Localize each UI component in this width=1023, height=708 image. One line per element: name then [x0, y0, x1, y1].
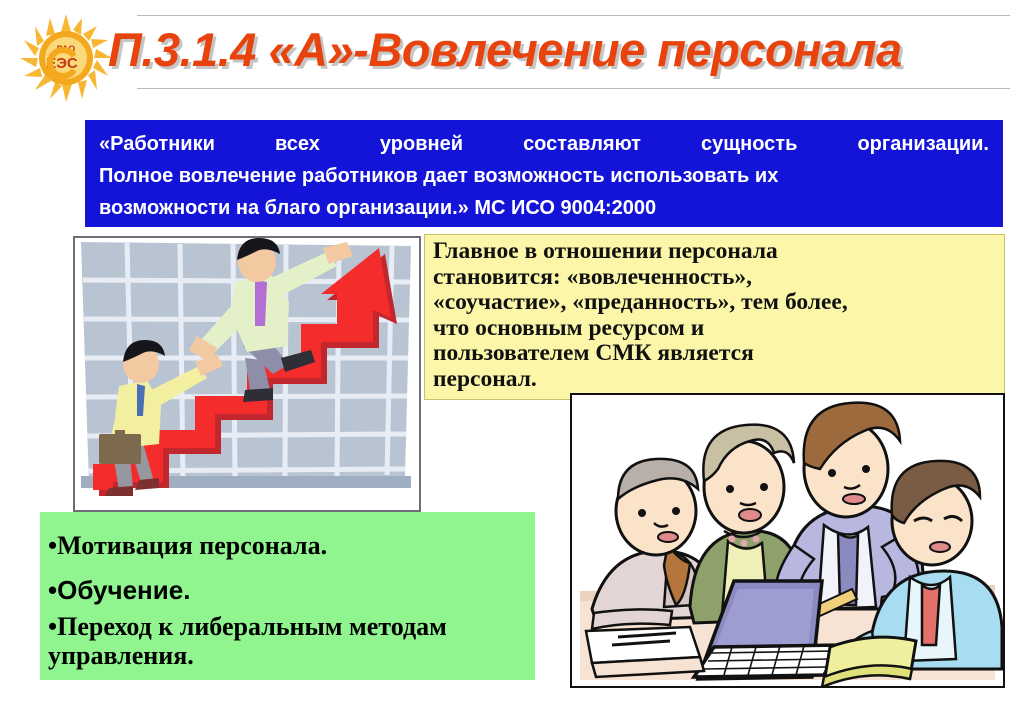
quote-word: «Работники — [99, 128, 215, 160]
yellow-line: Главное в отношении персонала — [433, 239, 998, 265]
quote-word: всех — [275, 128, 320, 160]
iso-quote-box: «Работники всех уровней составляют сущно… — [85, 120, 1003, 227]
yellow-line: «соучастие», «преданность», тем более, — [433, 290, 998, 316]
yellow-line: персонал. — [433, 367, 998, 393]
quote-word: сущность — [701, 128, 797, 160]
yellow-line: становится: «вовлеченность», — [433, 265, 998, 291]
list-item: •Мотивация персонала. — [48, 524, 525, 568]
quote-word: составляют — [523, 128, 641, 160]
team-around-laptop-clipart — [570, 393, 1005, 688]
quote-word: уровней — [380, 128, 463, 160]
personnel-emphasis-box: Главное в отношении персонала становится… — [424, 234, 1005, 400]
header-rule-top — [137, 15, 1010, 16]
quote-line-3: возможности на благо организации.» МС ИС… — [99, 192, 989, 224]
measures-bullet-box: •Мотивация персонала. •Обучение. •Перехо… — [40, 512, 535, 680]
yellow-line: что основным ресурсом и — [433, 316, 998, 342]
quote-line-2: Полное вовлечение работников дает возмож… — [99, 160, 989, 192]
list-item: •Переход к либеральным методам управлени… — [48, 612, 525, 670]
page-title: П.3.1.4 «А»-Вовлечение персонала — [108, 22, 902, 77]
businessmen-climbing-red-arrow-stairs-clipart — [73, 236, 421, 512]
slide-root: РАО ЕЭС П.3.1.4 «А»-Вовлечение персонала… — [0, 0, 1023, 708]
header-rule-bottom — [137, 88, 1010, 89]
yellow-line: пользователем СМК является — [433, 341, 998, 367]
quote-word: организации. — [857, 128, 989, 160]
rao-ees-sun-logo-icon: РАО ЕЭС — [18, 12, 114, 104]
list-item: •Обучение. — [48, 568, 525, 612]
quote-line-1: «Работники всех уровней составляют сущно… — [99, 128, 989, 160]
